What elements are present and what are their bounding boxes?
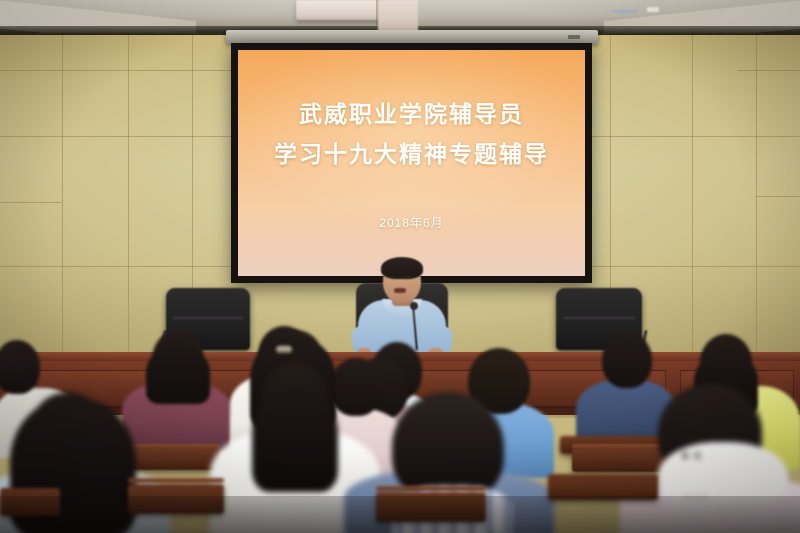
wall-seam xyxy=(756,196,800,197)
projector-label-strip xyxy=(612,10,638,13)
wall-seam xyxy=(738,70,800,71)
foreground-shadow xyxy=(0,496,800,533)
wall-seam xyxy=(0,70,240,71)
presenter-eye-left xyxy=(390,276,395,278)
screen-housing xyxy=(226,30,598,44)
bench-rail xyxy=(128,478,224,483)
slide-date: 2018年6月 xyxy=(238,214,585,231)
projector-vent xyxy=(647,7,659,12)
glasses-icon xyxy=(2,360,24,369)
lecture-hall-photo: 武威职业学院辅导员 学习十九大精神专题辅导 2018年6月 xyxy=(0,0,800,533)
screen-housing-endcap xyxy=(568,35,580,39)
wall-seam xyxy=(128,33,129,363)
presenter-hair xyxy=(381,257,423,279)
hair-clip xyxy=(276,346,292,353)
hoodie-graphic-text: B G xyxy=(660,452,724,462)
slide-title: 武威职业学院辅导员 学习十九大精神专题辅导 xyxy=(238,94,585,174)
slide-title-line-2: 学习十九大精神专题辅导 xyxy=(238,134,585,174)
wall-seam xyxy=(62,33,63,363)
wall-seam xyxy=(0,202,62,203)
bench-rail xyxy=(376,486,486,491)
projector-mount-arm xyxy=(378,0,418,33)
projector-body xyxy=(296,0,380,20)
wall-seam xyxy=(756,33,757,363)
microphone-head xyxy=(410,302,418,310)
slide-title-line-1: 武威职业学院辅导员 xyxy=(238,94,585,134)
wall-seam xyxy=(692,33,693,363)
presenter-eye-right xyxy=(406,276,411,278)
projection-screen: 武威职业学院辅导员 学习十九大精神专题辅导 2018年6月 xyxy=(238,50,585,276)
presenter-mouth xyxy=(394,288,406,293)
